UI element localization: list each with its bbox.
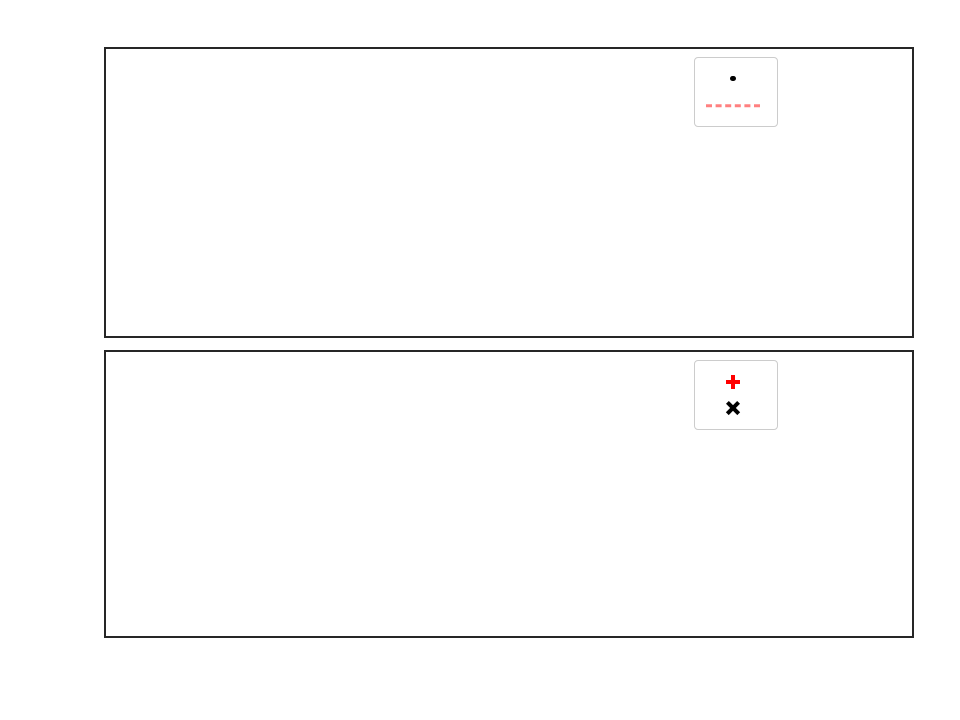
legend-item-threshold: [705, 92, 765, 119]
legend-item-matched-stars: [705, 368, 765, 395]
matplotlib-figure: [0, 0, 960, 720]
legend-bottom: [694, 360, 778, 430]
plot-area-bottom: [106, 352, 912, 636]
axes-top-matched-predicted-ratio: [104, 47, 914, 338]
plot-area-top: [106, 49, 912, 336]
dot-marker-icon: [705, 68, 761, 90]
axes-bottom-star-counts: [104, 350, 914, 638]
dashed-line-icon: [705, 95, 761, 117]
legend-item-predicted-stars: [705, 395, 765, 422]
plus-marker-icon: [705, 371, 761, 393]
legend-item-measurements: [705, 65, 765, 92]
cross-marker-icon: [705, 398, 761, 420]
legend-top: [694, 57, 778, 127]
